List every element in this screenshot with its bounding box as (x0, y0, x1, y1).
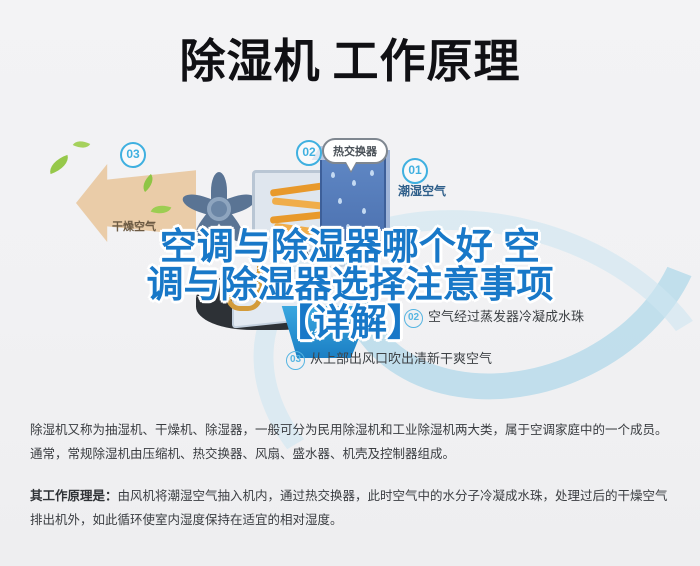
fan-hub (207, 197, 231, 221)
paragraph-2-lead: 其工作原理是： (30, 489, 118, 503)
water-droplet (362, 208, 366, 214)
coil-tube (270, 182, 324, 196)
paragraph-1: 除湿机又称为抽湿机、干燥机、除湿器，一般可分为民用除湿机和工业除湿机两大类，属于… (30, 418, 674, 466)
leaf-icon (73, 137, 90, 152)
step-text-03: 从上部出风口吹出清新干爽空气 (310, 351, 492, 366)
water-droplet (338, 198, 342, 204)
coil-tube (272, 197, 324, 209)
water-droplet (370, 170, 374, 176)
page-title-part-2: 工作原理 (333, 35, 521, 87)
leaf-icon (47, 155, 72, 174)
page-title: 除湿机工作原理 (0, 32, 700, 90)
overlay-headline-line-3: 【详解】 (0, 304, 700, 342)
diagram-badge-02: 02 (296, 140, 322, 166)
page-title-part-1: 除湿机 (180, 35, 321, 87)
diagram-badge-01: 01 (402, 158, 428, 184)
paragraph-2: 其工作原理是：由风机将潮湿空气抽入机内，通过热交换器，此时空气中的水分子冷凝成水… (30, 484, 674, 532)
paragraph-2-rest: 由风机将潮湿空气抽入机内，通过热交换器，此时空气中的水分子冷凝成水珠，处理过后的… (118, 489, 668, 503)
paragraph-1-line-1: 除湿机又称为抽湿机、干燥机、除湿器，一般可分为民用除湿机和工业除湿机两大类，属于… (30, 423, 668, 437)
step-number-03: 03 (286, 351, 305, 370)
water-droplet (331, 172, 335, 178)
step-caption-03: 03从上部出风口吹出清新干爽空气 (286, 348, 492, 370)
humid-air-label: 潮湿空气 (398, 182, 446, 199)
diagram-badge-03: 03 (120, 142, 146, 168)
water-droplet (352, 180, 356, 186)
article-body: 除湿机又称为抽湿机、干燥机、除湿器，一般可分为民用除湿机和工业除湿机两大类，属于… (30, 418, 674, 532)
overlay-headline-line-1: 空调与除湿器哪个好 空 (0, 228, 700, 266)
paragraph-1-line-2: 通常，常规除湿机由压缩机、热交换器、风扇、盛水器、机壳及控制器组成。 (30, 447, 455, 461)
heat-exchanger-callout: 热交换器 (322, 138, 388, 164)
coil-tube (270, 211, 324, 224)
article-image: 除湿机工作原理 干燥空气 (0, 0, 700, 566)
paragraph-2-line-2: 排出机外，如此循环使室内湿度保持在适宜的相对湿度。 (30, 513, 343, 527)
overlay-headline-line-2: 调与除湿器选择注意事项 (0, 266, 700, 304)
overlay-headline: 空调与除湿器哪个好 空 调与除湿器选择注意事项 【详解】 (0, 228, 700, 342)
